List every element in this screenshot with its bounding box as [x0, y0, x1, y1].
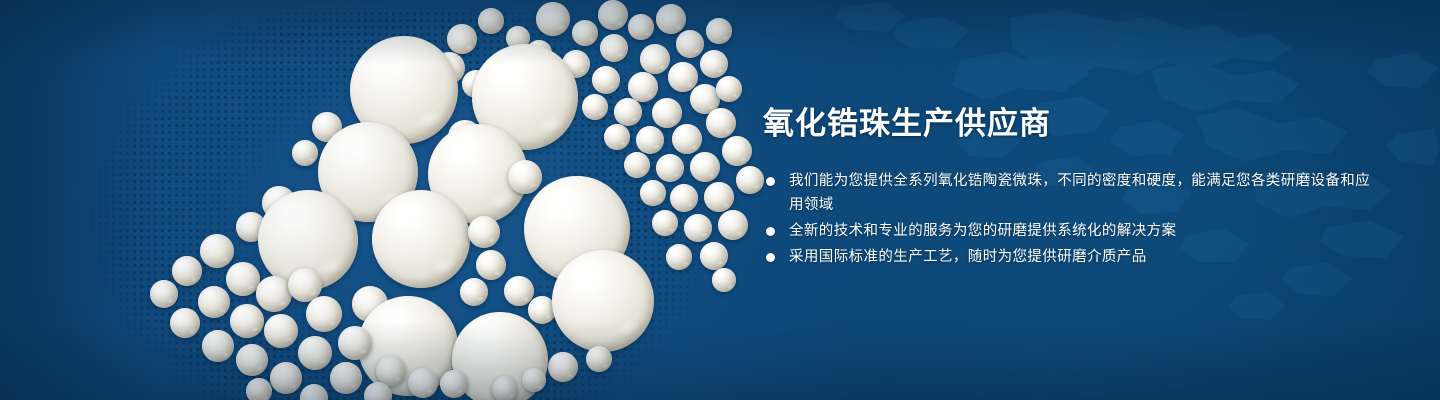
bullet-dot-icon	[766, 177, 775, 186]
feature-list: 我们能为您提供全系列氧化锆陶瓷微珠，不同的密度和硬度，能满足您各类研磨设备和应用…	[763, 169, 1383, 269]
list-item: 采用国际标准的生产工艺，随时为您提供研磨介质产品	[763, 245, 1383, 269]
bullet-dot-icon	[766, 227, 775, 236]
banner-copy-block: 氧化锆珠生产供应商 我们能为您提供全系列氧化锆陶瓷微珠，不同的密度和硬度，能满足…	[763, 104, 1383, 271]
list-item-label: 采用国际标准的生产工艺，随时为您提供研磨介质产品	[789, 245, 1383, 269]
list-item-label: 全新的技术和专业的服务为您的研磨提供系统化的解决方案	[789, 219, 1383, 243]
hero-banner: 氧化锆珠生产供应商 我们能为您提供全系列氧化锆陶瓷微珠，不同的密度和硬度，能满足…	[0, 0, 1440, 400]
page-title: 氧化锆珠生产供应商	[763, 104, 1383, 144]
list-item: 全新的技术和专业的服务为您的研磨提供系统化的解决方案	[763, 219, 1383, 243]
bullet-dot-icon	[766, 253, 775, 262]
list-item-label: 我们能为您提供全系列氧化锆陶瓷微珠，不同的密度和硬度，能满足您各类研磨设备和应用…	[789, 169, 1383, 217]
list-item: 我们能为您提供全系列氧化锆陶瓷微珠，不同的密度和硬度，能满足您各类研磨设备和应用…	[763, 169, 1383, 217]
